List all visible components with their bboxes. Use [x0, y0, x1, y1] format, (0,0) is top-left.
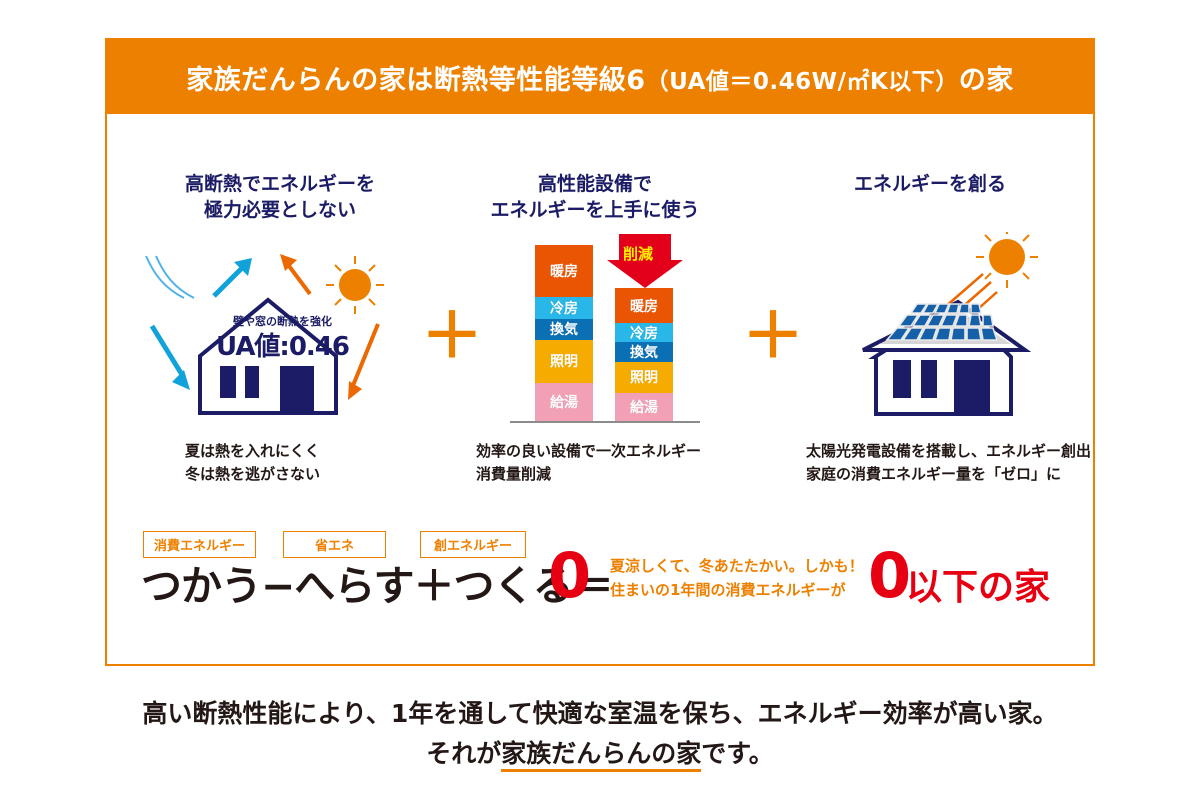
bar-before: 暖房冷房換気照明給湯 [535, 245, 593, 421]
bar-segment-照明: 照明 [615, 362, 673, 392]
footer-brand-name: 家族だんらんの家 [501, 739, 701, 772]
column-2-caption: 効率の良い設備で一次エネルギー 消費量削減 [476, 440, 701, 487]
bar-after: 暖房冷房換気照明給湯 [615, 288, 673, 421]
house-window-1 [893, 360, 911, 398]
column-2-title-line2: エネルギーを上手に使う [465, 198, 725, 224]
column-3-caption-line2: 家庭の消費エネルギー量を「ゼロ」に [806, 463, 1091, 486]
footer-text: 高い断熱性能により、1年を通して快適な室温を保ち、エネルギー効率が高い家。 それ… [0, 694, 1200, 774]
column-1-caption: 夏は熱を入れにくく 冬は熱を逃がさない [185, 440, 320, 487]
column-3-title-line1: エネルギーを創る [790, 172, 1070, 198]
equation-note-line1: 夏涼しくて、冬あたたかい。しかも！ [610, 554, 864, 578]
column-1-caption-line1: 夏は熱を入れにくく [185, 440, 320, 463]
header-paren: （UA値＝0.46W/㎡K以下） [646, 69, 959, 95]
column-1-title-line2: 極力必要としない [150, 198, 410, 224]
bar-segment-給湯: 給湯 [615, 393, 673, 421]
orange-arrow-up-icon [280, 254, 310, 294]
column-2-caption-line2: 消費量削減 [476, 463, 701, 486]
blue-arrow-up-icon [214, 258, 252, 296]
footer-line2-pre: それが [426, 739, 501, 768]
plus-sign-1: ＋ [421, 305, 483, 367]
column-1-title: 高断熱でエネルギーを 極力必要としない [150, 172, 410, 223]
column-2-title: 高性能設備で エネルギーを上手に使う [465, 172, 725, 223]
sun-icon [976, 232, 1038, 288]
footer-line2-post: です。 [701, 739, 774, 768]
column-2-title-line1: 高性能設備で [465, 172, 725, 198]
bar-segment-換気: 換気 [615, 342, 673, 362]
chart-baseline [510, 421, 700, 423]
bar-segment-換気: 換気 [535, 319, 593, 339]
house-door [954, 360, 990, 412]
equation-formula: つかう−へらす＋つくる＝ [141, 552, 613, 612]
heat-wave-lines-icon [146, 256, 194, 298]
equation-zero: 0 [548, 545, 591, 607]
panel-header: 家族だんらんの家は断熱等性能等級6（UA値＝0.46W/㎡K以下）の家 [107, 40, 1093, 114]
bar-segment-暖房: 暖房 [535, 245, 593, 297]
house-door [280, 366, 314, 413]
bar-segment-冷房: 冷房 [535, 297, 593, 319]
equation-note: 夏涼しくて、冬あたたかい。しかも！ 住まいの1年間の消費エネルギーが [610, 554, 864, 602]
ua-value-label: UA値:0.46 [140, 326, 425, 363]
house-window-1 [220, 366, 236, 398]
header-tail: の家 [959, 65, 1014, 96]
solar-panel-array-icon [879, 304, 1011, 344]
column-3-caption: 太陽光発電設備を搭載し、エネルギー創出 家庭の消費エネルギー量を「ゼロ」に [806, 440, 1091, 487]
column-2-caption-line1: 効率の良い設備で一次エネルギー [476, 440, 701, 463]
bar-segment-冷房: 冷房 [615, 323, 673, 342]
column-3-title: エネルギーを創る [790, 172, 1070, 198]
house-window-2 [245, 366, 259, 398]
equation-note-line2: 住まいの1年間の消費エネルギーが [610, 578, 864, 602]
sun-icon [326, 256, 384, 314]
bar-segment-給湯: 給湯 [535, 383, 593, 421]
solar-house-illustration [835, 232, 1085, 432]
footer-line-2: それが家族だんらんの家です。 [0, 734, 1200, 774]
result-zero: 0 [868, 545, 911, 607]
bar-segment-暖房: 暖房 [615, 288, 673, 323]
plus-sign-2: ＋ [742, 305, 804, 367]
house-window-2 [921, 360, 937, 398]
header-main: 家族だんらんの家は断熱等性能等級6 [186, 65, 645, 96]
footer-line-1: 高い断熱性能により、1年を通して快適な室温を保ち、エネルギー効率が高い家。 [0, 694, 1200, 734]
column-1-title-line1: 高断熱でエネルギーを [150, 172, 410, 198]
result-tail-label: 以下の家 [906, 558, 1050, 610]
column-3-caption-line1: 太陽光発電設備を搭載し、エネルギー創出 [806, 440, 1091, 463]
reduction-label: 削減 [623, 243, 653, 264]
bar-segment-照明: 照明 [535, 340, 593, 383]
column-1-caption-line2: 冬は熱を逃がさない [185, 463, 320, 486]
panel-header-title: 家族だんらんの家は断熱等性能等級6（UA値＝0.46W/㎡K以下）の家 [186, 58, 1013, 97]
